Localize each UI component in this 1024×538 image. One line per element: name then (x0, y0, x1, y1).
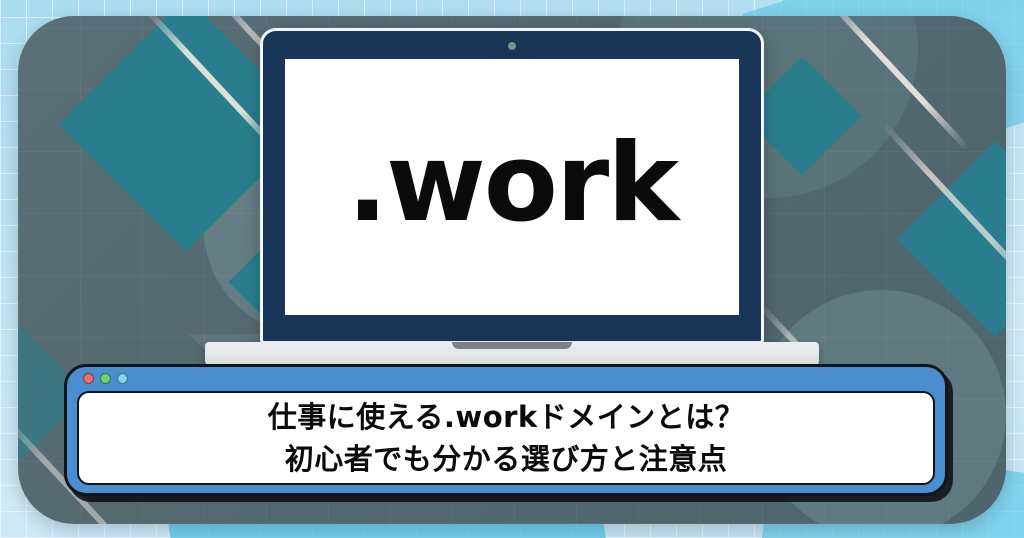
title-banner-content: 仕事に使える.workドメインとは？ 初心者でも分かる選び方と注意点 (77, 391, 935, 485)
maximize-dot-icon[interactable] (117, 373, 128, 384)
window-controls (83, 373, 128, 384)
webcam-icon (508, 42, 516, 50)
laptop-lid: .work (260, 28, 764, 344)
laptop-screen: .work (285, 59, 739, 315)
thumbnail-canvas: .work 仕事に使える.workドメインとは？ 初心者でも分かる選び方と注意点 (0, 0, 1024, 538)
title-line-1: 仕事に使える.workドメインとは？ (268, 402, 744, 432)
close-dot-icon[interactable] (83, 373, 94, 384)
minimize-dot-icon[interactable] (100, 373, 111, 384)
title-banner: 仕事に使える.workドメインとは？ 初心者でも分かる選び方と注意点 (64, 364, 948, 496)
title-line-2: 初心者でも分かる選び方と注意点 (285, 444, 728, 474)
laptop-hinge-notch (452, 342, 572, 349)
screen-domain-text: .work (347, 130, 677, 238)
